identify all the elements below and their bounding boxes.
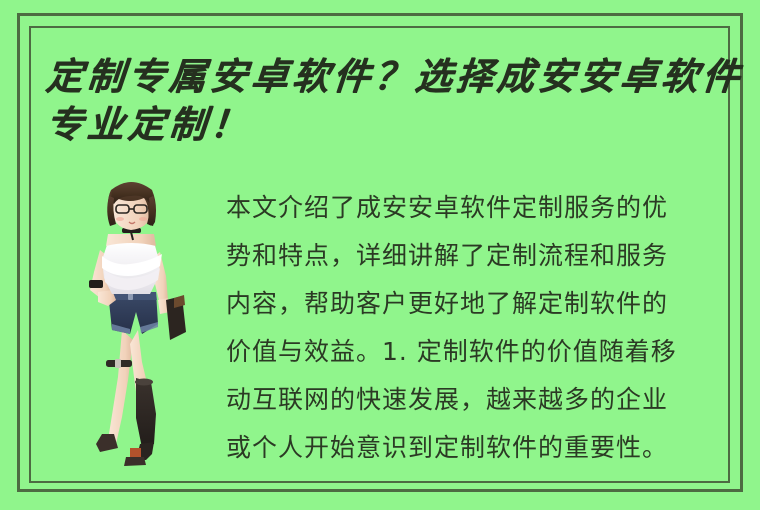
blush-right	[139, 217, 147, 221]
body-line-3: 内容，帮助客户更好地了解定制软件的	[226, 280, 722, 328]
blush-left	[116, 217, 124, 221]
body-line-1: 本文介绍了成安安卓软件定制服务的优	[226, 184, 722, 232]
thigh-strap	[106, 359, 132, 368]
body-line-2: 势和特点，详细讲解了定制流程和服务	[226, 232, 722, 280]
leg-bare	[108, 330, 133, 444]
stocking-right	[136, 378, 156, 448]
poster-canvas: 定制专属安卓软件？选择成安安卓软件 专业定制！	[0, 0, 760, 510]
wrist-watch	[89, 280, 103, 288]
body-line-4: 价值与效益。1. 定制软件的价值随着移	[226, 328, 722, 376]
body-line-5: 动互联网的快速发展，越来越多的企业	[226, 376, 722, 424]
title-line-1: 定制专属安卓软件？选择成安安卓软件	[44, 52, 738, 100]
body-line-6: 或个人开始意识到定制软件的重要性。	[226, 424, 722, 472]
sock-accent	[130, 448, 141, 457]
poster-title: 定制专属安卓软件？选择成安安卓软件 专业定制！	[46, 52, 736, 148]
anime-girl-illustration	[78, 172, 200, 467]
shoe-right	[124, 457, 146, 466]
title-line-2: 专业定制！	[44, 100, 738, 148]
stocking-band	[135, 379, 153, 386]
shoe-left	[96, 434, 118, 452]
handbag-flap	[174, 295, 185, 308]
poster-body-text: 本文介绍了成安安卓软件定制服务的优 势和特点，详细讲解了定制流程和服务 内容，帮…	[226, 184, 722, 472]
